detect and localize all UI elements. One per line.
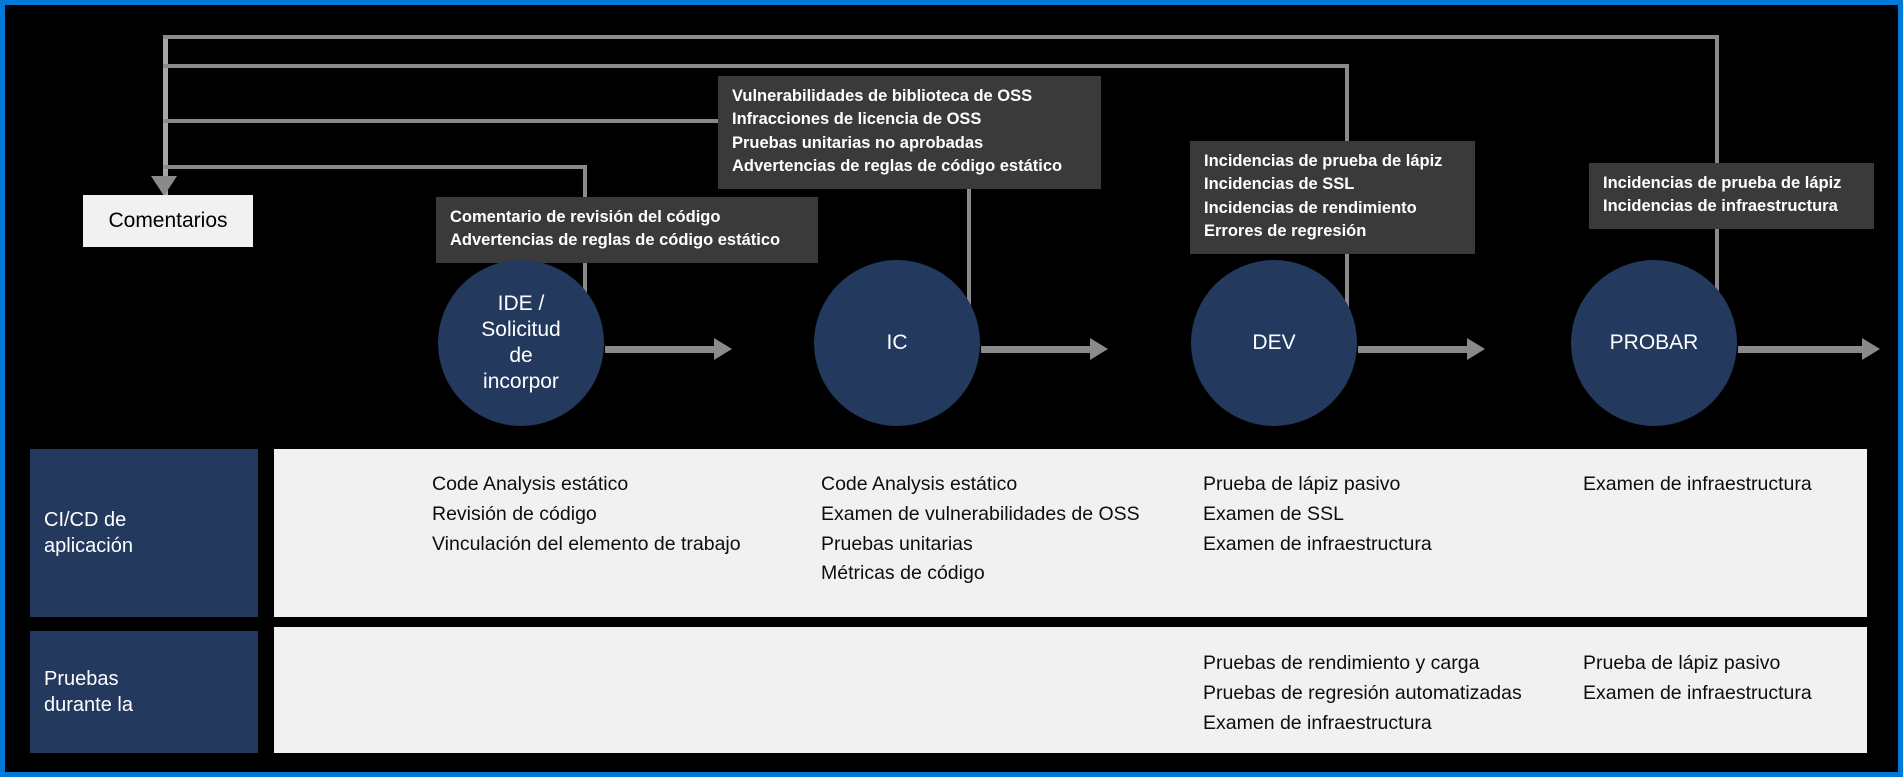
- lane-item: Examen de vulnerabilidades de OSS: [821, 500, 1140, 530]
- lane-label-app-cicd-text: CI/CD de aplicación: [44, 507, 133, 559]
- lane-item: Vinculación del elemento de trabajo: [432, 530, 741, 560]
- lane-item: Pruebas unitarias: [821, 530, 1140, 560]
- callout-dev-line-4: Errores de regresión: [1204, 220, 1461, 243]
- lane-item: Prueba de lápiz pasivo: [1583, 649, 1812, 679]
- lane-app-cicd-col-probar: Examen de infraestructura: [1583, 470, 1812, 500]
- lane-item: Examen de SSL: [1203, 500, 1432, 530]
- flow-arrow-probar-out: [1738, 346, 1863, 353]
- callout-probar: Incidencias de prueba de lápiz Incidenci…: [1589, 163, 1874, 229]
- stage-node-probar[interactable]: PROBAR: [1571, 260, 1737, 426]
- stage-node-dev[interactable]: DEV: [1191, 260, 1357, 426]
- feedback-arrow-icon: [151, 176, 177, 196]
- lane-item: Examen de infraestructura: [1203, 709, 1522, 739]
- diagram-canvas: Comentarios Comentario de revisión del c…: [0, 0, 1903, 777]
- lane-testing-col-dev: Pruebas de rendimiento y carga Pruebas d…: [1203, 649, 1522, 738]
- callout-ide: Comentario de revisión del código Advert…: [436, 197, 818, 263]
- lane-label-app-cicd: CI/CD de aplicación: [30, 449, 258, 617]
- flow-arrow-ic-to-dev: [981, 346, 1091, 353]
- lane-item: Examen de infraestructura: [1203, 530, 1432, 560]
- stage-node-ic-label: IC: [869, 330, 926, 356]
- feedback-line-probar: [163, 35, 1719, 39]
- lane-testing-col-probar: Prueba de lápiz pasivo Examen de infraes…: [1583, 649, 1812, 709]
- lane-item: Examen de infraestructura: [1583, 470, 1812, 500]
- callout-ic: Vulnerabilidades de biblioteca de OSS In…: [718, 76, 1101, 189]
- flow-arrow-ide-to-ic: [605, 346, 715, 353]
- lane-item: Revisión de código: [432, 500, 741, 530]
- callout-ide-line-1: Comentario de revisión del código: [450, 206, 804, 229]
- stage-node-ide-label: IDE / Solicitud de incorpor: [463, 291, 578, 396]
- feedback-line-ide: [163, 165, 585, 169]
- lane-app-cicd-col-ic: Code Analysis estático Examen de vulnera…: [821, 470, 1140, 589]
- callout-dev-line-1: Incidencias de prueba de lápiz: [1204, 150, 1461, 173]
- callout-probar-line-1: Incidencias de prueba de lápiz: [1603, 172, 1860, 195]
- callout-dev: Incidencias de prueba de lápiz Incidenci…: [1190, 141, 1475, 254]
- stage-node-probar-label: PROBAR: [1592, 330, 1717, 356]
- callout-probar-line-2: Incidencias de infraestructura: [1603, 195, 1860, 218]
- callout-ic-line-1: Vulnerabilidades de biblioteca de OSS: [732, 85, 1087, 108]
- lane-item: Code Analysis estático: [821, 470, 1140, 500]
- callout-dev-line-3: Incidencias de rendimiento: [1204, 197, 1461, 220]
- lane-item: Examen de infraestructura: [1583, 679, 1812, 709]
- callout-dev-line-2: Incidencias de SSL: [1204, 173, 1461, 196]
- lane-label-testing-text: Pruebas durante la: [44, 666, 133, 718]
- lane-item: Prueba de lápiz pasivo: [1203, 470, 1432, 500]
- feedback-spine-line: [163, 35, 168, 195]
- flow-arrow-dev-to-probar: [1358, 346, 1468, 353]
- feedback-line-dev: [163, 64, 1349, 68]
- callout-ic-line-4: Advertencias de reglas de código estátic…: [732, 155, 1087, 178]
- stage-node-ic[interactable]: IC: [814, 260, 980, 426]
- lane-item: Code Analysis estático: [432, 470, 741, 500]
- lane-item: Métricas de código: [821, 559, 1140, 589]
- lane-label-testing: Pruebas durante la: [30, 631, 258, 753]
- stage-node-ide[interactable]: IDE / Solicitud de incorpor: [438, 260, 604, 426]
- feedback-box[interactable]: Comentarios: [83, 195, 253, 247]
- lane-item: Pruebas de rendimiento y carga: [1203, 649, 1522, 679]
- lane-app-cicd-col-dev: Prueba de lápiz pasivo Examen de SSL Exa…: [1203, 470, 1432, 559]
- callout-ic-line-2: Infracciones de licencia de OSS: [732, 108, 1087, 131]
- callout-ide-line-2: Advertencias de reglas de código estátic…: [450, 229, 804, 252]
- lane-app-cicd-col-ide: Code Analysis estático Revisión de códig…: [432, 470, 741, 559]
- stage-node-dev-label: DEV: [1234, 330, 1313, 356]
- feedback-label: Comentarios: [108, 209, 227, 233]
- lane-item: Pruebas de regresión automatizadas: [1203, 679, 1522, 709]
- callout-ic-line-3: Pruebas unitarias no aprobadas: [732, 132, 1087, 155]
